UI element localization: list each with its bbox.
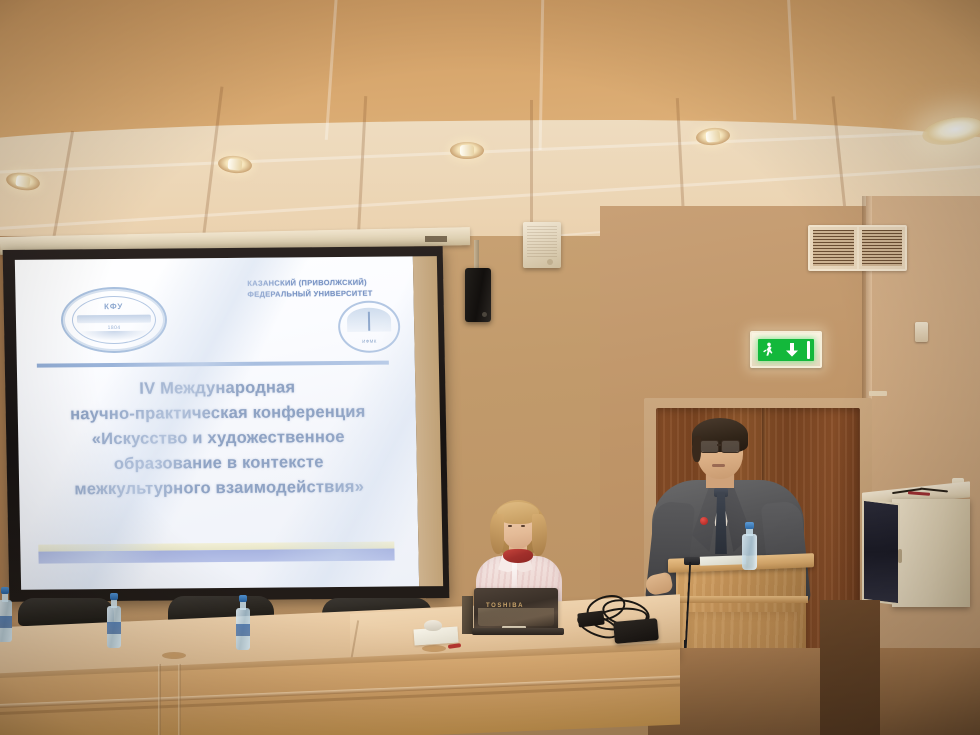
down-arrow-icon [783,342,800,358]
emergency-exit-sign [750,331,822,368]
exit-sign-pictogram [758,339,814,361]
eyeglasses-icon [700,440,719,453]
vent-louvers [813,230,854,266]
slide-accent-band [38,549,394,564]
ceiling-downlight-icon [450,142,484,159]
hanging-loudspeaker-icon [465,268,491,322]
vent-louvers [862,230,903,266]
table-panel-split [158,664,161,735]
exit-sign-edge-bar [807,341,810,359]
assistant-hair-right [532,514,547,556]
projection-screen: КАЗАНСКИЙ (ПРИВОЛЖСКИЙ) ФЕДЕРАЛЬНЫЙ УНИВ… [3,246,450,602]
running-man-icon [762,342,774,358]
slide-title-line5: межкультурного взаимодействия» [25,474,413,502]
slide-organization-header: КАЗАНСКИЙ (ПРИВОЛЖСКИЙ) ФЕДЕРАЛЬНЫЙ УНИВ… [247,276,419,300]
laptop-base [472,628,564,635]
water-bottle-table[interactable] [107,590,121,648]
wall-loudspeaker-icon [523,222,561,268]
cabinet-body [892,499,970,607]
assistant-eye [508,525,512,527]
computer-mouse-icon[interactable] [424,620,442,631]
projected-slide: КАЗАНСКИЙ (ПРИВОЛЖСКИЙ) ФЕДЕРАЛЬНЫЙ УНИВ… [15,256,419,589]
wall-sensor-icon [915,322,928,342]
air-conditioning-grille-icon [808,225,907,271]
laptop-brand-label: TOSHIBA [486,603,524,609]
slide-title-line4: образование в контексте [25,449,413,477]
table-coaster [162,652,186,659]
slide-divider-rule [37,361,389,368]
emblem2-abbrev: ИФМК [340,338,398,344]
floor-shadow-area [820,600,880,735]
screen-side-wall [413,256,443,586]
kfu-emblem-icon: КФУ 1804 [60,287,167,354]
cabinet-handle[interactable] [898,549,902,563]
emblem-abbrev: КФУ [63,302,165,312]
slide-title-line2: научно-практическая конференция [24,399,412,427]
presenter-mouth [712,464,725,467]
eyeglasses-icon [721,440,740,453]
vent-divider [857,227,859,269]
far-right-wall [866,196,980,696]
emblem-band [77,315,151,324]
conference-hall-photo: КАЗАНСКИЙ (ПРИВОЛЖСКИЙ) ФЕДЕРАЛЬНЫЙ УНИВ… [0,0,980,735]
power-adapter [613,618,659,644]
water-bottle-lectern [742,522,757,570]
laptop-lid-highlight [478,608,554,626]
slide-title-line1: IV Международная [139,378,295,397]
water-bottle-table[interactable] [0,584,12,642]
lectern-lip [674,596,808,603]
wall-network-cabinet[interactable] [862,487,970,607]
slide-title: IV Международная научно-практическая кон… [23,374,413,502]
emblem-wreath [79,331,149,342]
speaker-knob [547,259,553,265]
assistant-hair-left [490,514,504,554]
tree-icon [368,312,370,331]
wall-plate [869,391,887,396]
lectern-papers [700,555,746,566]
assistant-neck-scarf [503,549,533,563]
eyeglasses-bridge [717,444,722,446]
institute-emblem-icon: ИФМК [338,300,401,353]
slide-org-line2: ФЕДЕРАЛЬНЫЙ УНИВЕРСИТЕТ [247,287,419,300]
speaker-grill [527,226,557,258]
laptop-lid: TOSHIBA [474,588,558,630]
table-coaster [422,645,446,652]
assistant-eye [521,525,525,527]
roller-housing-label [425,236,447,242]
toshiba-laptop[interactable]: TOSHIBA [474,588,566,642]
cabinet-glass-door[interactable] [862,499,900,606]
presenter-lapel-pin [700,517,708,525]
table-panel-split [178,664,181,735]
cabinet-cables [890,486,952,497]
water-bottle-table[interactable] [236,592,250,650]
slide-title-line3: «Искусство и художественное [24,424,412,452]
floor [648,648,980,735]
